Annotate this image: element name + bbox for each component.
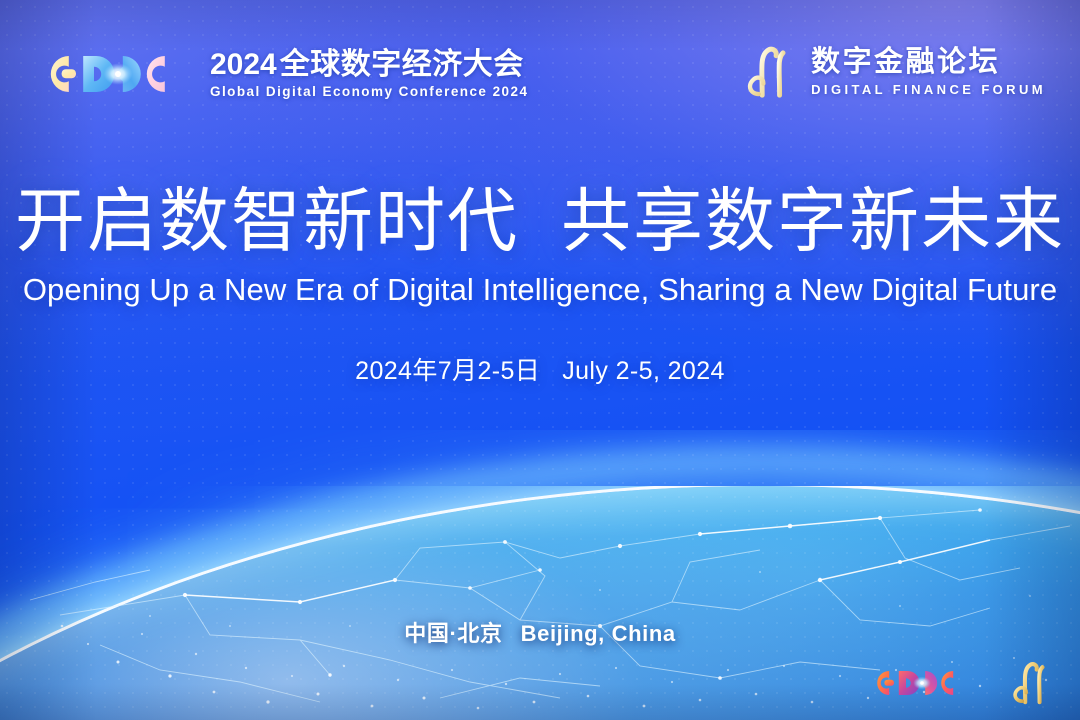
dff-title-en: DIGITAL FINANCE FORUM — [811, 82, 1046, 97]
headline-cn: 开启数智新时代共享数字新未来 — [0, 186, 1080, 256]
dff-title-cn: 数字金融论坛 — [811, 47, 1046, 78]
event-date-en: July 2-5, 2024 — [562, 357, 725, 385]
headline-cn-part2: 共享数字新未来 — [561, 182, 1065, 260]
footer-logo-group — [864, 660, 1054, 706]
footer-gdec-logo-icon — [864, 663, 976, 703]
headline-block: 开启数智新时代共享数字新未来 Opening Up a New Era of D… — [0, 186, 1080, 387]
event-date-cn: 2024年7月2-5日 — [355, 357, 540, 385]
gdec-logo-icon — [34, 44, 196, 104]
dff-ff-monogram-icon — [739, 44, 797, 100]
gdec-logo-lockup: 2024全球数字经济大会 Global Digital Economy Conf… — [34, 44, 528, 104]
header-bar: 2024全球数字经济大会 Global Digital Economy Conf… — [0, 0, 1080, 140]
gdec-title-cn: 2024全球数字经济大会 — [210, 49, 528, 81]
location-en: Beijing, China — [521, 621, 676, 646]
location-cn: 中国·北京 — [404, 621, 502, 646]
conference-backdrop: 2024全球数字经济大会 Global Digital Economy Conf… — [0, 0, 1080, 720]
headline-cn-part1: 开启数智新时代 — [15, 182, 519, 260]
dff-logo-lockup: 数字金融论坛 DIGITAL FINANCE FORUM — [739, 44, 1046, 100]
footer-dff-logo-icon — [1006, 660, 1054, 706]
headline-en: Opening Up a New Era of Digital Intellig… — [0, 273, 1080, 307]
gdec-title-en: Global Digital Economy Conference 2024 — [210, 84, 528, 101]
gdec-logo-text: 2024全球数字经济大会 Global Digital Economy Conf… — [210, 47, 528, 101]
event-date: 2024年7月2-5日July 2-5, 2024 — [0, 351, 1080, 387]
dff-logo-text: 数字金融论坛 DIGITAL FINANCE FORUM — [811, 47, 1046, 97]
event-location: 中国·北京Beijing, China — [0, 616, 1080, 648]
